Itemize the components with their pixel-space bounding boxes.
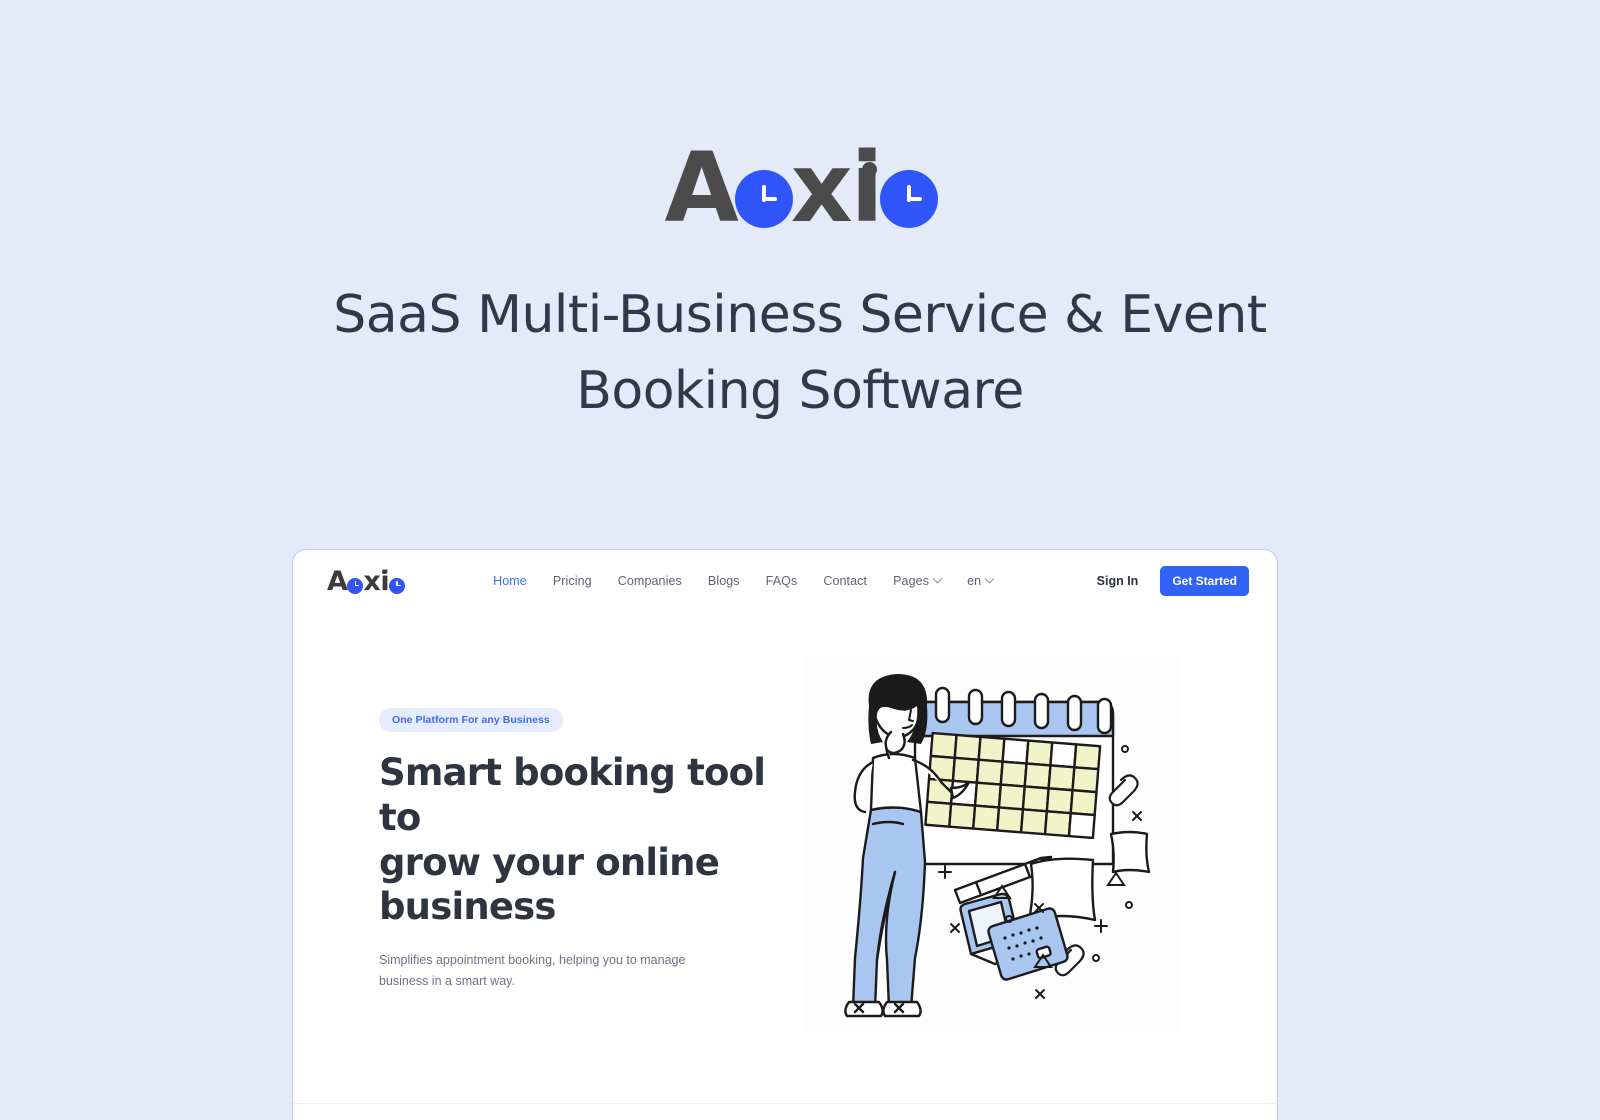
nav-item-language-label: en — [967, 574, 981, 588]
website-mockup-card: A xi Home Pricing Companies Blogs FAQs C… — [292, 549, 1278, 1120]
page-root: A xi SaaS Multi-Business Service & Event… — [0, 0, 1600, 1120]
nav-item-blogs[interactable]: Blogs — [708, 574, 740, 588]
nav-item-home[interactable]: Home — [493, 574, 527, 588]
clock-icon — [735, 170, 793, 228]
nav-item-pages-label: Pages — [893, 574, 929, 588]
page-title-line-2: Booking Software — [0, 354, 1600, 430]
clock-icon — [389, 578, 405, 594]
hero-copy: One Platform For any Business Smart book… — [379, 670, 783, 1030]
hero-heading-line-2: grow your online — [379, 841, 783, 886]
chevron-down-icon — [933, 573, 943, 583]
sign-in-button[interactable]: Sign In — [1085, 567, 1151, 595]
hero-heading-line-3: business — [379, 885, 783, 930]
hero-illustration-panel — [803, 658, 1179, 1030]
navbar-links: Home Pricing Companies Blogs FAQs Contac… — [493, 574, 993, 588]
chevron-down-icon — [985, 573, 995, 583]
brand-letter-a: A — [664, 140, 736, 236]
navbar-logo[interactable]: A xi — [327, 568, 405, 595]
nav-item-faqs[interactable]: FAQs — [766, 574, 798, 588]
woman-with-calendar-illustration — [803, 658, 1179, 1030]
nav-item-pricing[interactable]: Pricing — [553, 574, 592, 588]
navbar-letter-a: A — [327, 568, 347, 595]
site-navbar: A xi Home Pricing Companies Blogs FAQs C… — [293, 550, 1277, 612]
navbar-actions: Sign In Get Started — [1085, 566, 1249, 596]
brand-letters-xi: xi — [791, 132, 882, 244]
nav-item-pages[interactable]: Pages — [893, 574, 941, 588]
hero-section: One Platform For any Business Smart book… — [293, 612, 1277, 1030]
brand-logo: A xi — [0, 140, 1600, 236]
nav-item-companies[interactable]: Companies — [618, 574, 682, 588]
nav-item-language[interactable]: en — [967, 574, 993, 588]
page-title-line-1: SaaS Multi-Business Service & Event — [0, 278, 1600, 354]
hero-heading: Smart booking tool to grow your online b… — [379, 751, 783, 930]
section-divider — [293, 1103, 1277, 1104]
get-started-button[interactable]: Get Started — [1160, 566, 1249, 596]
nav-item-contact[interactable]: Contact — [823, 574, 867, 588]
clock-icon — [880, 170, 938, 228]
hero-subtitle: Simplifies appointment booking, helping … — [379, 950, 704, 992]
hero-badge: One Platform For any Business — [379, 708, 563, 732]
clock-icon — [347, 578, 363, 594]
hero-heading-line-1: Smart booking tool to — [379, 751, 783, 841]
page-title: SaaS Multi-Business Service & Event Book… — [0, 278, 1600, 430]
hero-subtitle-line-2: a smart way. — [445, 974, 515, 988]
hero-subtitle-line-1: Simplifies appointment booking, helping … — [379, 953, 685, 988]
brand-i-dot — [862, 162, 877, 177]
navbar-i-dot — [382, 570, 387, 575]
